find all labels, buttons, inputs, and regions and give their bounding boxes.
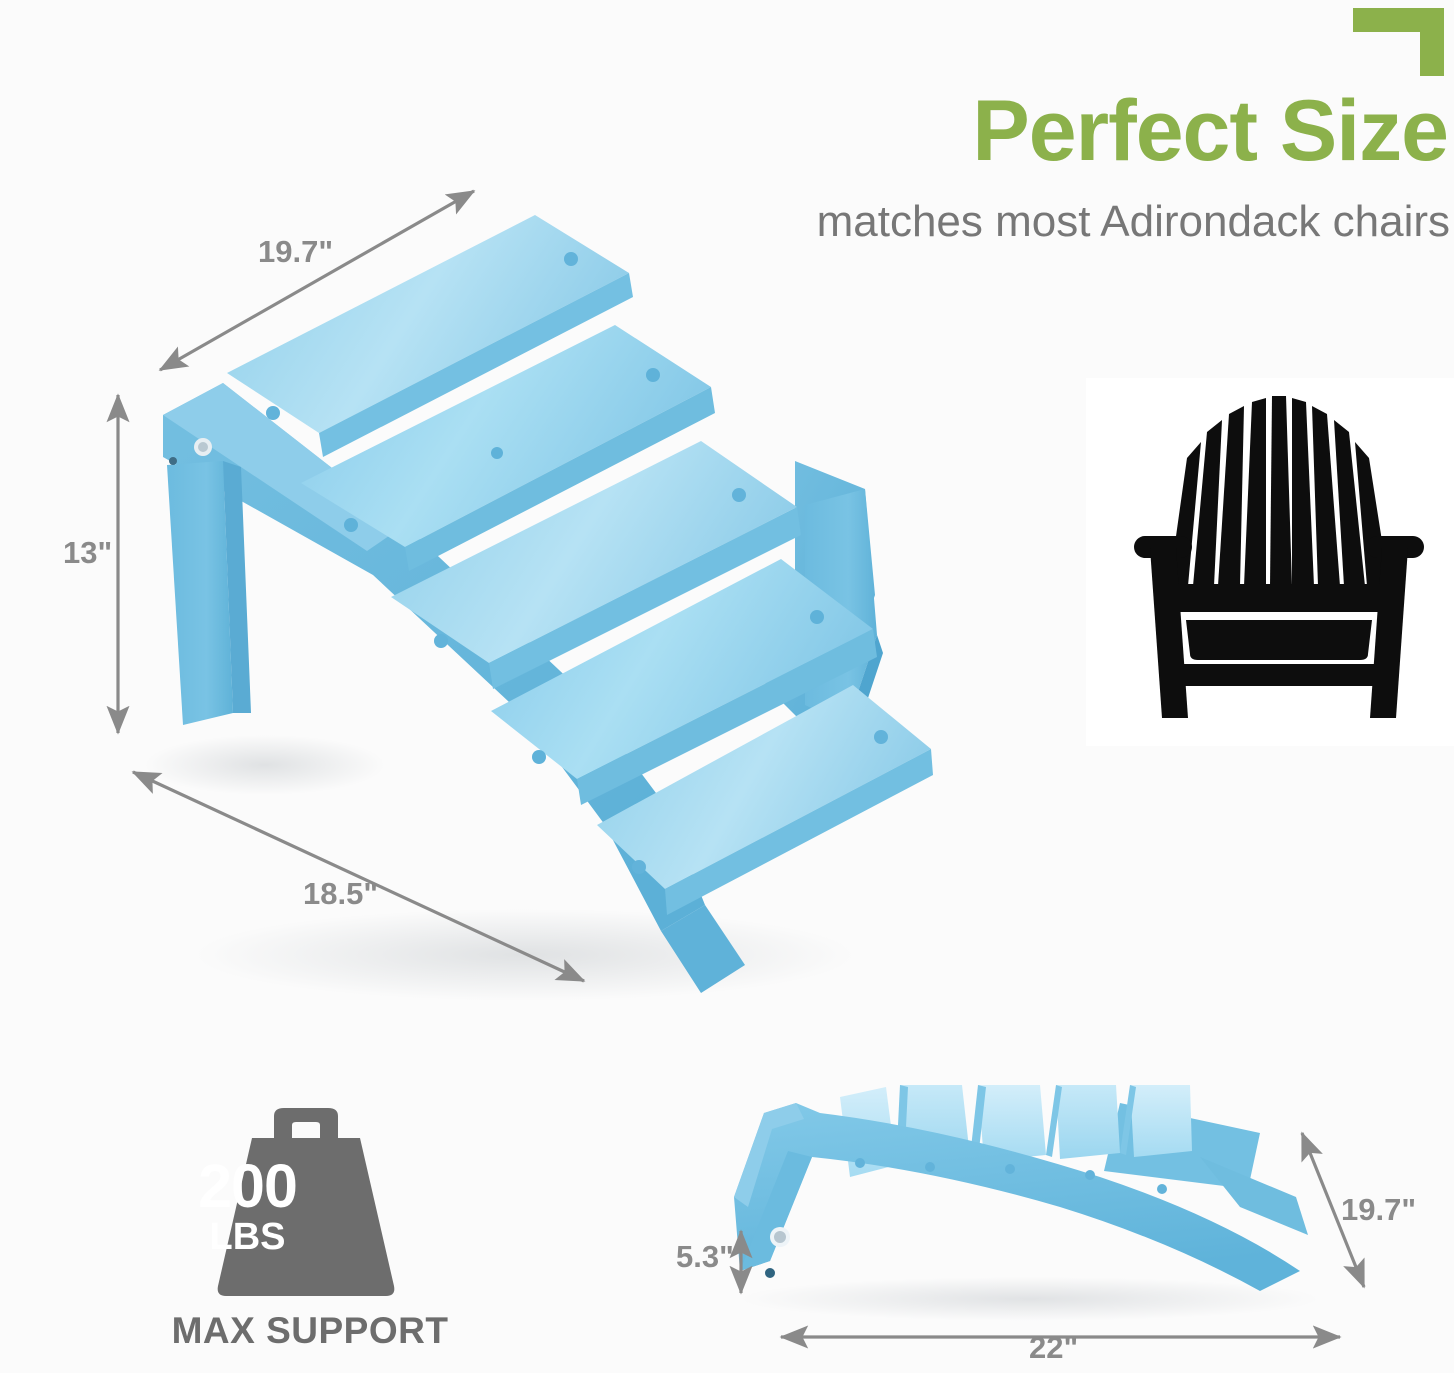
dimension-label-folded-length: 22" bbox=[1029, 1330, 1078, 1366]
adirondack-ottoman-folded-illustration bbox=[700, 1085, 1350, 1335]
adirondack-chair-card bbox=[1086, 378, 1454, 746]
dimension-label-width-top: 19.7" bbox=[258, 234, 333, 270]
max-support-caption: MAX SUPPORT bbox=[150, 1310, 470, 1352]
adirondack-chair-icon bbox=[1124, 388, 1434, 736]
dimension-label-depth: 18.5" bbox=[303, 876, 378, 912]
page-title: Perfect Size bbox=[680, 88, 1454, 174]
dimension-label-folded-depth: 19.7" bbox=[1341, 1192, 1416, 1228]
corner-bracket-icon bbox=[1353, 8, 1444, 76]
dimension-label-height: 13" bbox=[63, 535, 112, 571]
dimension-label-folded-height: 5.3" bbox=[676, 1239, 734, 1275]
weight-unit: LBS bbox=[150, 1218, 345, 1256]
weight-value: 200 bbox=[150, 1156, 345, 1217]
infographic-canvas: Perfect Size matches most Adirondack cha… bbox=[0, 0, 1454, 1373]
adirondack-ottoman-perspective-illustration bbox=[105, 165, 935, 1025]
corner-bracket-vertical-arm bbox=[1420, 8, 1444, 76]
max-support-badge: 200 LBS MAX SUPPORT bbox=[150, 1108, 470, 1363]
